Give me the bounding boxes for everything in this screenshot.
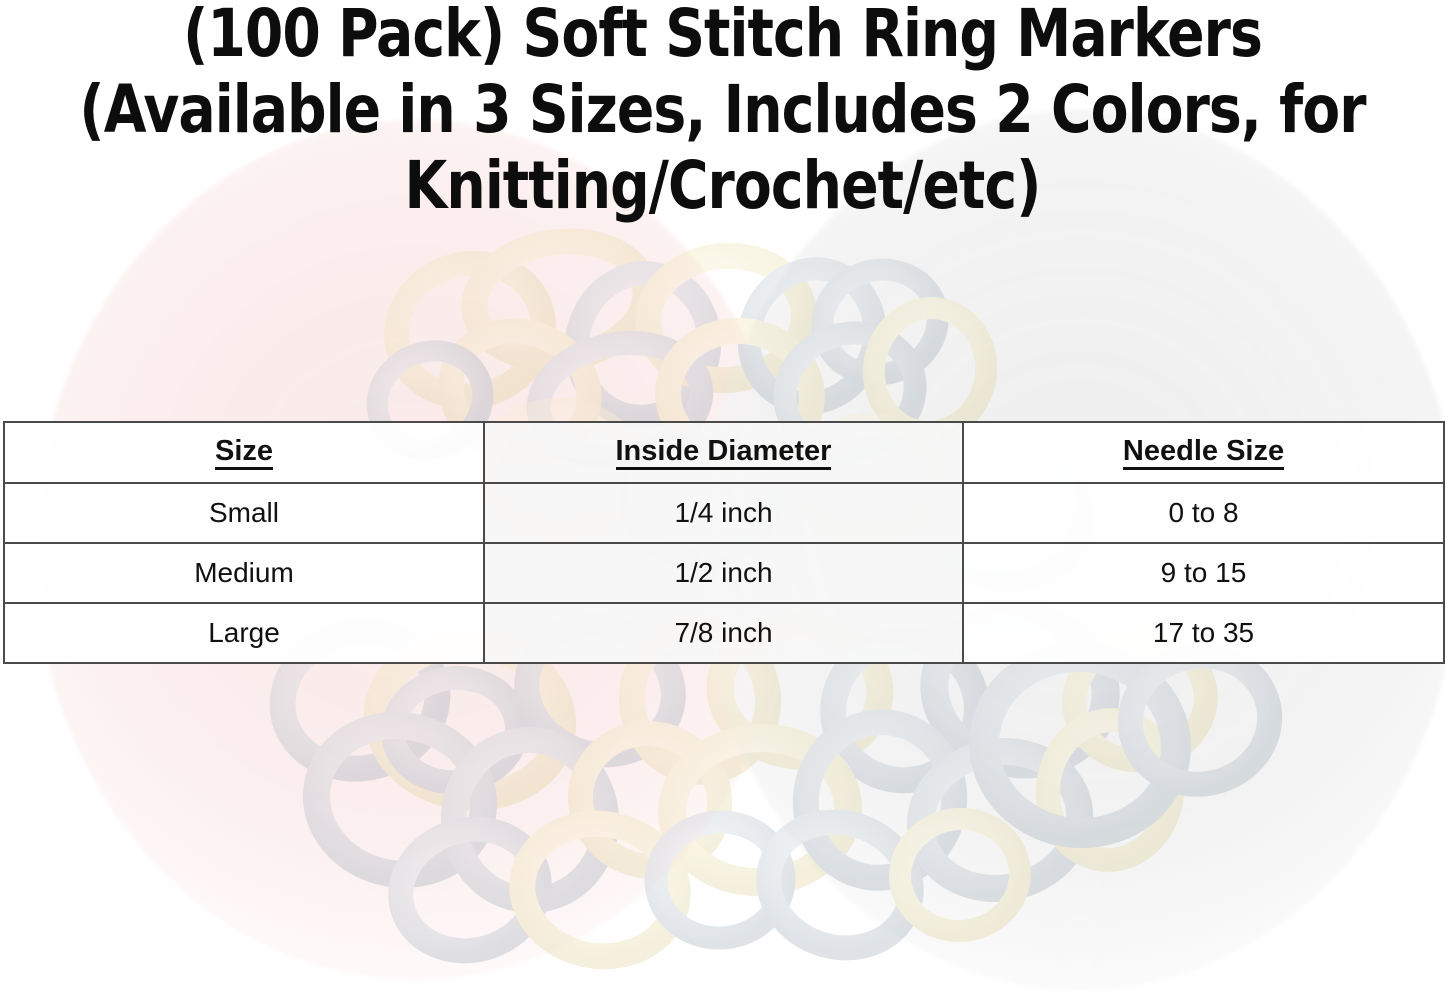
- product-image-canvas: (100 Pack) Soft Stitch Ring Markers (Ava…: [0, 0, 1445, 1007]
- table-header-row: Size Inside Diameter Needle Size: [4, 422, 1444, 483]
- column-header-inside-diameter: Inside Diameter: [484, 422, 963, 483]
- cell-size-large: Large: [4, 603, 484, 663]
- column-header-size-label: Size: [215, 436, 273, 470]
- size-chart-table: Size Inside Diameter Needle Size Small 1…: [3, 421, 1445, 664]
- cell-inside-diameter-small: 1/4 inch: [484, 483, 963, 543]
- cell-inside-diameter-large: 7/8 inch: [484, 603, 963, 663]
- product-title: (100 Pack) Soft Stitch Ring Markers (Ava…: [51, 0, 1395, 224]
- column-header-needle-size-label: Needle Size: [1123, 436, 1284, 470]
- column-header-inside-diameter-label: Inside Diameter: [616, 436, 832, 470]
- cell-needle-size-small: 0 to 8: [963, 483, 1444, 543]
- cell-size-small: Small: [4, 483, 484, 543]
- cell-needle-size-medium: 9 to 15: [963, 543, 1444, 603]
- column-header-size: Size: [4, 422, 484, 483]
- table-row: Small 1/4 inch 0 to 8: [4, 483, 1444, 543]
- cell-needle-size-large: 17 to 35: [963, 603, 1444, 663]
- cell-size-medium: Medium: [4, 543, 484, 603]
- cell-inside-diameter-medium: 1/2 inch: [484, 543, 963, 603]
- table-row: Medium 1/2 inch 9 to 15: [4, 543, 1444, 603]
- table-row: Large 7/8 inch 17 to 35: [4, 603, 1444, 663]
- column-header-needle-size: Needle Size: [963, 422, 1444, 483]
